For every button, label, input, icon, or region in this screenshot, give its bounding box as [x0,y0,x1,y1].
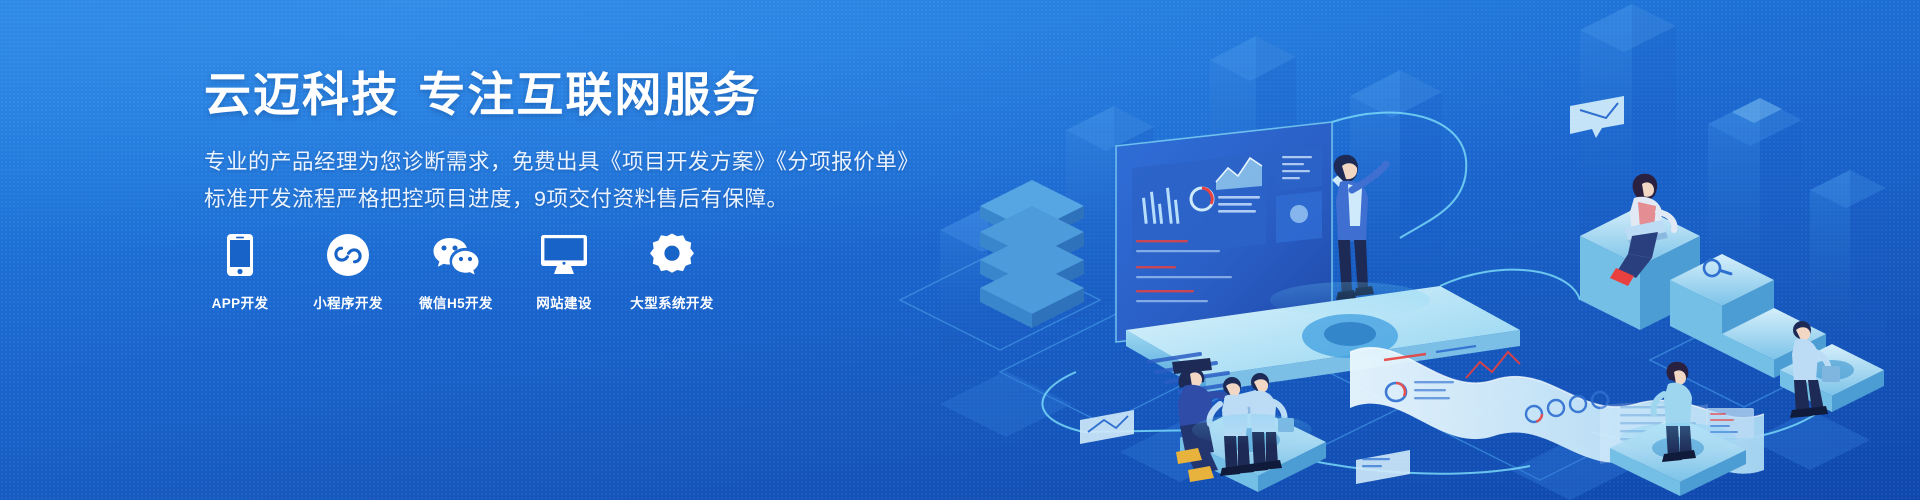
wechat-icon [432,232,480,278]
person-standing-pointing [1332,155,1386,300]
monitor-icon [541,232,587,278]
subtitle-line-1: 专业的产品经理为您诊断需求，免费出具《项目开发方案》《分项报价单》 [204,145,924,180]
connector-wires [1042,113,1824,474]
report-sheet [1350,346,1764,474]
illustration-isometric-data-platform [880,0,1920,500]
cube-steps-right [1580,206,1884,412]
hero-copy: 云迈科技 专注互联网服务 专业的产品经理为您诊断需求，免费出具《项目开发方案》《… [204,68,924,217]
page-title: 云迈科技 专注互联网服务 [204,68,924,123]
phone-platform [1126,286,1520,392]
service-label: 网站建设 [536,292,592,312]
service-label: 小程序开发 [313,292,383,312]
person-sitting-pillar [1610,174,1674,286]
floating-ui-cards [1080,96,1624,484]
person-seated-laptop [1172,358,1264,482]
dashboard-screen [1116,122,1332,342]
person-pair-left-b [1248,373,1294,472]
service-item-website[interactable]: 网站建设 [526,232,602,312]
search-glyph-on-cube [1701,254,1731,284]
mini-program-icon [327,232,369,278]
service-label: 微信H5开发 [419,292,493,312]
service-label: 大型系统开发 [630,292,713,312]
person-pair-left-a [1209,377,1254,476]
gear-icon [650,232,694,278]
server-stack [980,180,1084,328]
service-list: APP开发 小程序开发 [202,232,710,312]
person-right-bottom-pad [1653,362,1696,462]
service-item-wechat-h5[interactable]: 微信H5开发 [418,232,494,312]
pad-right-bottom [1610,416,1746,496]
hero-banner: 云迈科技 专注互联网服务 专业的产品经理为您诊断需求，免费出具《项目开发方案》《… [0,0,1920,500]
pad-left-bottom [1180,404,1326,492]
platform-glows [1192,282,1736,453]
service-item-mini-program[interactable]: 小程序开发 [310,232,386,312]
subtitle-line-2: 标准开发流程严格把控项目进度，9项交付资料售后有保障。 [204,182,924,217]
dashboard-panels [1132,147,1322,302]
person-walking-right [1790,321,1840,418]
service-item-large-system[interactable]: 大型系统开发 [634,232,710,312]
floor-grid-lines [900,250,1836,480]
background-towers [940,4,1886,354]
service-item-app[interactable]: APP开发 [202,232,278,312]
mobile-phone-icon [227,232,253,278]
service-label: APP开发 [212,292,269,312]
floor-solid-tiles [940,371,1870,500]
